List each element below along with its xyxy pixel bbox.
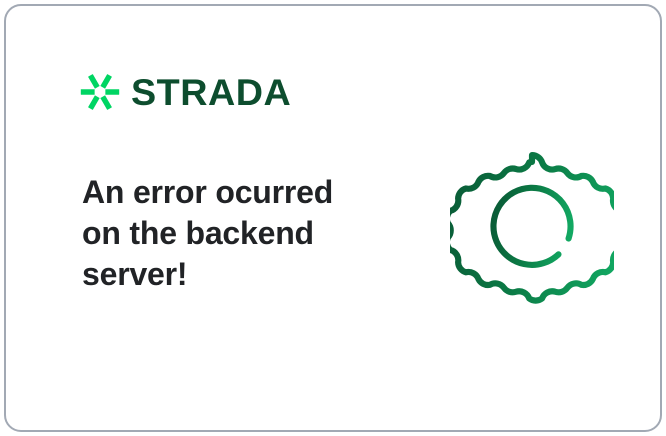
brand-wordmark: STRADA — [131, 74, 291, 111]
strada-asterisk-icon — [80, 72, 120, 112]
error-card: STRADA An error ocurred on the backend s… — [4, 4, 662, 432]
message-line-1: An error ocurred — [82, 172, 382, 213]
gear-teeth-ring — [450, 155, 614, 300]
message-line-3: server! — [82, 254, 382, 295]
message-line-2: on the backend — [82, 213, 382, 254]
gear-inner-ring — [493, 188, 570, 265]
gear-icon — [450, 142, 614, 306]
brand-lockup: STRADA — [80, 72, 288, 112]
error-message-text: An error ocurred on the backend server! — [82, 172, 382, 295]
